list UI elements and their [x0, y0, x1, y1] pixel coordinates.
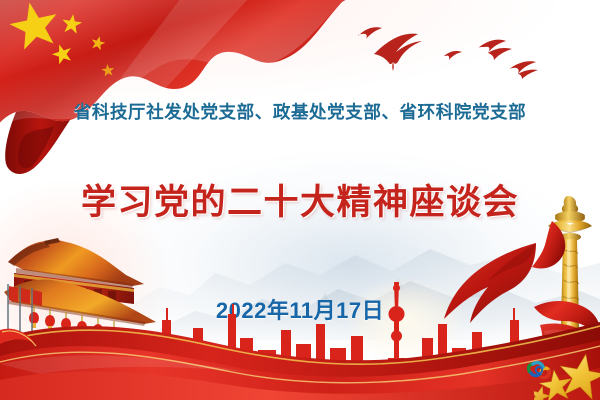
flying-birds-icon [352, 14, 582, 94]
bottom-ribbon-waves [0, 292, 600, 400]
organization-logo-icon [524, 356, 554, 384]
subtitle-organizations: 省科技厅社发处党支部、政基处党支部、省环科院党支部 [0, 99, 600, 124]
conference-banner: 省科技厅社发处党支部、政基处党支部、省环科院党支部 学习党的二十大精神座谈会 2… [0, 0, 600, 400]
flag-stars-icon [0, 0, 140, 95]
